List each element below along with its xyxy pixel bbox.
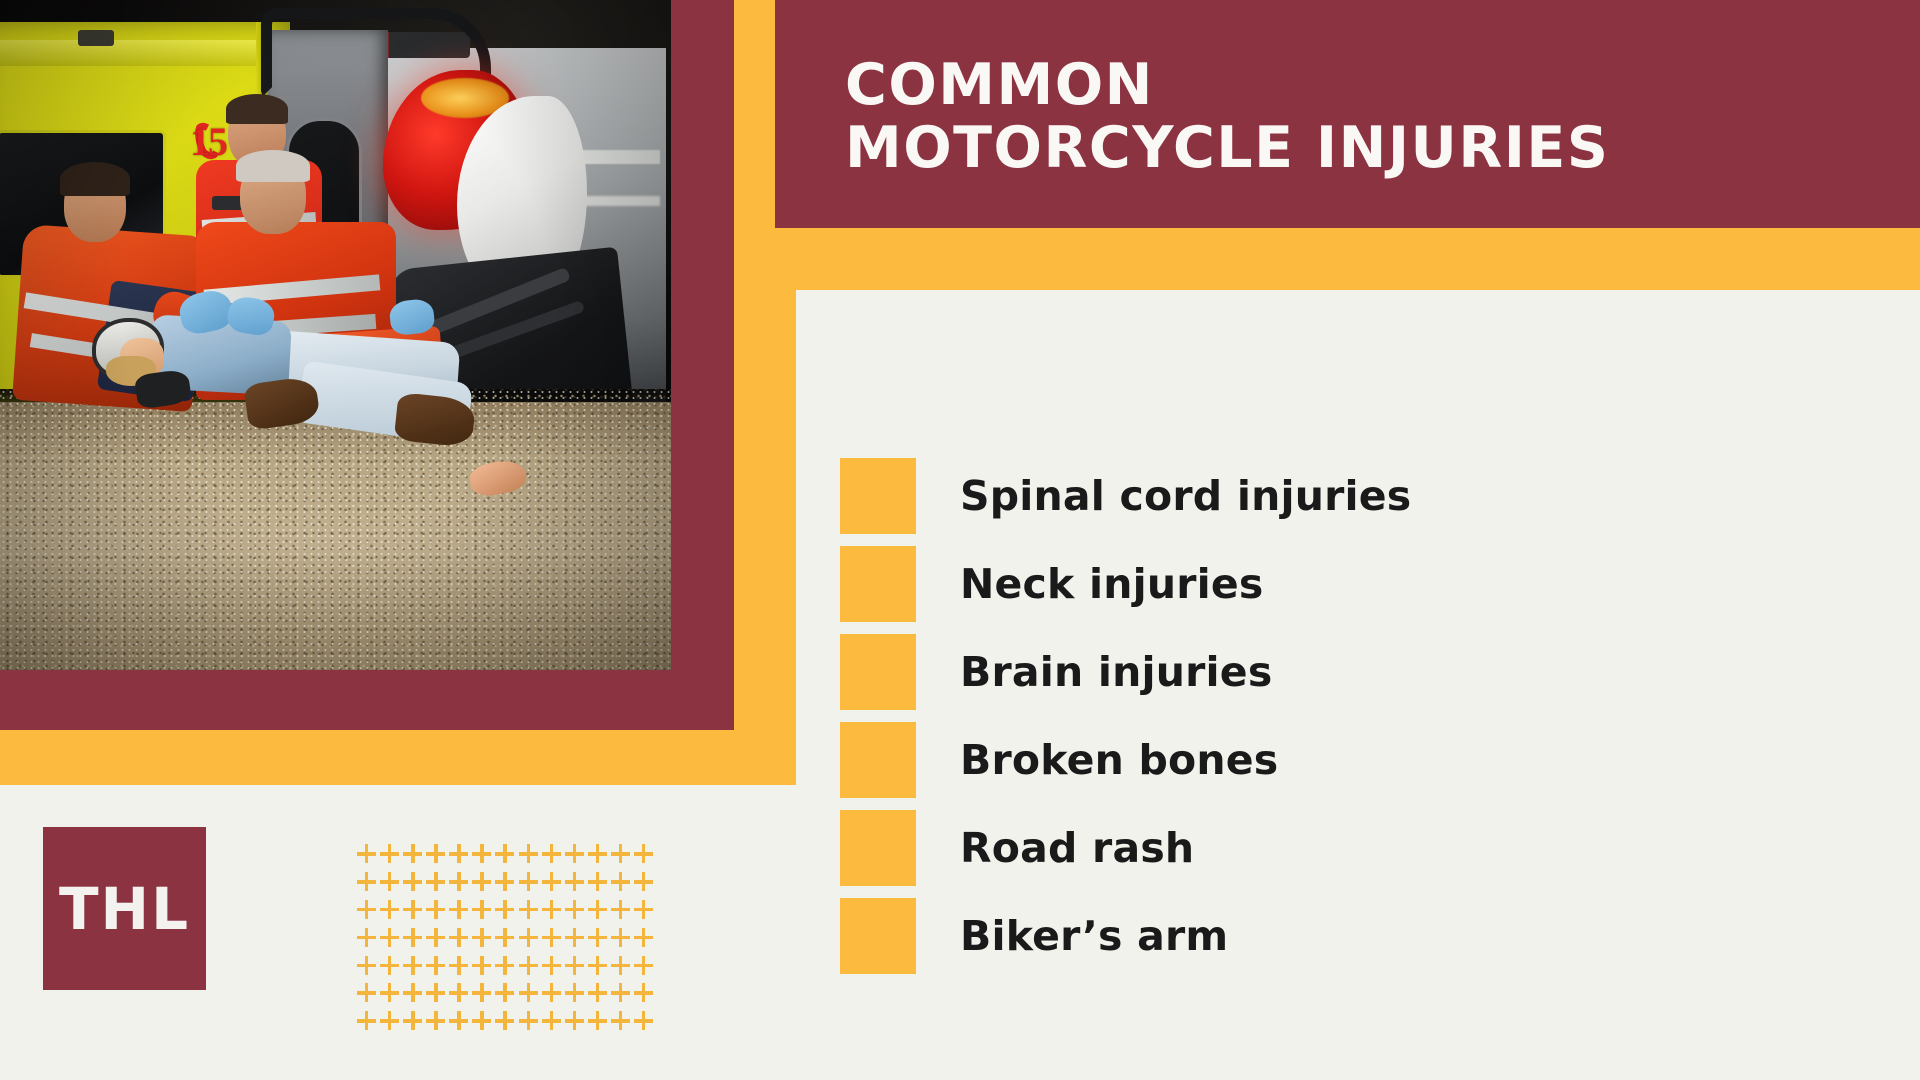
page-title: COMMON MOTORCYCLE INJURIES: [775, 48, 1609, 179]
list-item[interactable]: Broken bones: [840, 716, 1840, 804]
plus-icon: [542, 983, 561, 1002]
injury-list: Spinal cord injuries Neck injuries Brain…: [840, 452, 1840, 980]
plus-icon: [472, 900, 491, 919]
list-item[interactable]: Neck injuries: [840, 540, 1840, 628]
plus-icon: [472, 1011, 491, 1030]
plus-icon: [472, 844, 491, 863]
list-item-label: Road rash: [960, 824, 1194, 872]
list-item-label: Brain injuries: [960, 648, 1272, 696]
plus-icon: [519, 956, 538, 975]
list-item[interactable]: Biker’s arm: [840, 892, 1840, 980]
plus-icon: [426, 1011, 445, 1030]
plus-icon: [495, 983, 514, 1002]
plus-icon: [542, 1011, 561, 1030]
plus-icon: [472, 983, 491, 1002]
plus-icon: [611, 1011, 630, 1030]
plus-icon: [403, 1011, 422, 1030]
plus-icon: [519, 1011, 538, 1030]
plus-icon: [495, 844, 514, 863]
plus-icon: [357, 983, 376, 1002]
plus-icon: [634, 900, 653, 919]
plus-icon: [357, 928, 376, 947]
list-item-label: Neck injuries: [960, 560, 1264, 608]
header-banner: COMMON MOTORCYCLE INJURIES: [775, 0, 1920, 228]
plus-icon: [357, 872, 376, 891]
plus-icon: [519, 872, 538, 891]
plus-icon: [542, 844, 561, 863]
plus-icon: [565, 872, 584, 891]
accident-scene-photo: 15: [0, 0, 671, 670]
plus-icon: [426, 983, 445, 1002]
plus-icon: [472, 928, 491, 947]
plus-icon: [542, 872, 561, 891]
plus-icon: [588, 956, 607, 975]
plus-icon: [519, 983, 538, 1002]
bullet-square-icon: [840, 546, 916, 622]
plus-icon: [449, 900, 468, 919]
plus-icon: [565, 900, 584, 919]
logo-text: THL: [59, 875, 190, 943]
list-item-label: Biker’s arm: [960, 912, 1228, 960]
plus-icon: [403, 928, 422, 947]
plus-icon: [495, 872, 514, 891]
plus-icon: [588, 983, 607, 1002]
plus-icon: [611, 844, 630, 863]
plus-icon: [380, 928, 399, 947]
gravel-texture: [0, 389, 671, 670]
plus-icon: [634, 844, 653, 863]
ambulance-roof-bar: [0, 40, 280, 66]
plus-icon: [403, 872, 422, 891]
plus-icon: [611, 900, 630, 919]
plus-icon: [634, 983, 653, 1002]
plus-icon: [403, 844, 422, 863]
plus-pattern-decoration: [355, 840, 655, 1035]
plus-icon: [380, 872, 399, 891]
plus-icon: [542, 956, 561, 975]
paramedic-hair: [226, 94, 288, 124]
plus-icon: [380, 844, 399, 863]
plus-icon: [357, 844, 376, 863]
plus-icon: [380, 900, 399, 919]
plus-icon: [426, 928, 445, 947]
plus-icon: [611, 928, 630, 947]
plus-icon: [449, 956, 468, 975]
plus-icon: [495, 900, 514, 919]
plus-icon: [611, 872, 630, 891]
plus-icon: [380, 983, 399, 1002]
paramedic-hair: [60, 162, 130, 196]
plus-icon: [495, 1011, 514, 1030]
plus-icon: [495, 928, 514, 947]
yellow-horizontal-band: [0, 730, 734, 785]
plus-icon: [611, 956, 630, 975]
plus-icon: [519, 844, 538, 863]
plus-icon: [449, 1011, 468, 1030]
plus-icon: [495, 956, 514, 975]
bullet-square-icon: [840, 722, 916, 798]
list-item[interactable]: Road rash: [840, 804, 1840, 892]
plus-icon: [542, 900, 561, 919]
plus-icon: [449, 928, 468, 947]
header-accent-bar: [796, 228, 1920, 290]
list-item[interactable]: Brain injuries: [840, 628, 1840, 716]
plus-icon: [357, 956, 376, 975]
plus-icon: [449, 844, 468, 863]
plus-icon: [634, 956, 653, 975]
plus-icon: [565, 928, 584, 947]
plus-icon: [449, 983, 468, 1002]
infographic-canvas: 15: [0, 0, 1920, 1080]
plus-icon: [588, 872, 607, 891]
plus-icon: [426, 900, 445, 919]
bullet-square-icon: [840, 458, 916, 534]
plus-icon: [565, 956, 584, 975]
plus-icon: [588, 928, 607, 947]
list-item[interactable]: Spinal cord injuries: [840, 452, 1840, 540]
plus-icon: [472, 872, 491, 891]
ambulance-roof-light: [78, 30, 114, 46]
plus-icon: [565, 1011, 584, 1030]
list-item-label: Broken bones: [960, 736, 1278, 784]
plus-icon: [519, 900, 538, 919]
brand-logo[interactable]: THL: [43, 827, 206, 990]
bullet-square-icon: [840, 898, 916, 974]
plus-icon: [380, 1011, 399, 1030]
plus-icon: [403, 956, 422, 975]
plus-icon: [565, 844, 584, 863]
plus-icon: [403, 983, 422, 1002]
photo-content: 15: [0, 0, 671, 670]
plus-icon: [472, 956, 491, 975]
bullet-square-icon: [840, 810, 916, 886]
plus-icon: [403, 900, 422, 919]
plus-icon: [588, 900, 607, 919]
plus-icon: [611, 983, 630, 1002]
paramedic-hair-grey: [236, 150, 310, 182]
plus-icon: [449, 872, 468, 891]
plus-icon: [634, 1011, 653, 1030]
plus-icon: [426, 956, 445, 975]
plus-icon: [426, 844, 445, 863]
plus-icon: [634, 928, 653, 947]
plus-icon: [565, 983, 584, 1002]
plus-icon: [357, 900, 376, 919]
plus-icon: [426, 872, 445, 891]
plus-icon: [542, 928, 561, 947]
plus-icon: [357, 1011, 376, 1030]
plus-icon: [380, 956, 399, 975]
plus-icon: [519, 928, 538, 947]
plus-icon: [588, 1011, 607, 1030]
bullet-square-icon: [840, 634, 916, 710]
plus-icon: [588, 844, 607, 863]
list-item-label: Spinal cord injuries: [960, 472, 1411, 520]
plus-icon: [634, 872, 653, 891]
